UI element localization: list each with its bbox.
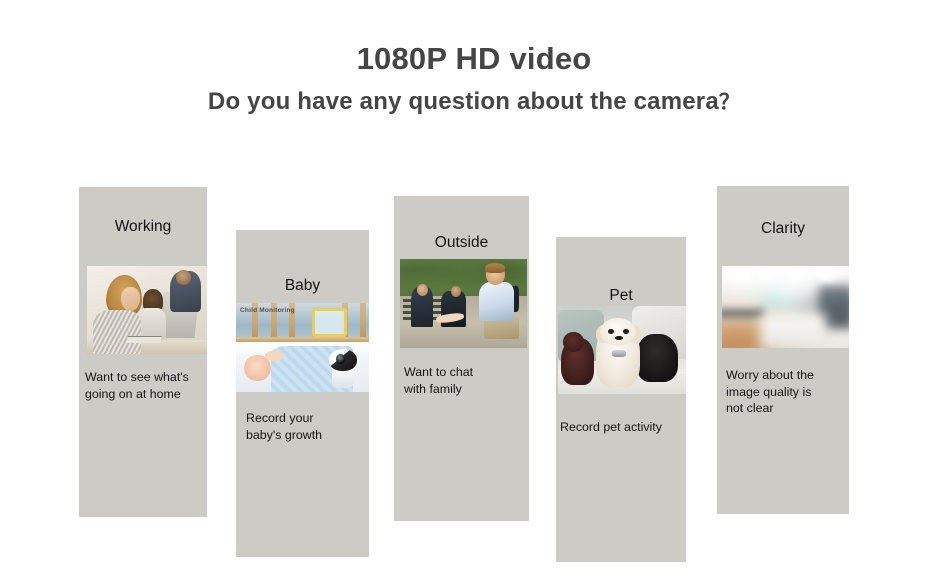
card-caption: Record pet activity bbox=[560, 419, 688, 436]
feature-card-pet: Pet Record pet activity bbox=[556, 237, 686, 562]
promo-page: 1080P HD video Do you have any question … bbox=[0, 0, 948, 585]
card-caption: Worry about the image quality is not cle… bbox=[726, 367, 848, 417]
photo-watermark: Child Monitoring bbox=[240, 307, 295, 314]
photo-artwork bbox=[558, 306, 686, 394]
page-title: 1080P HD video bbox=[0, 40, 948, 78]
feature-card-clarity: Clarity Worry about the image quality is… bbox=[717, 186, 849, 514]
card-heading: Clarity bbox=[717, 219, 849, 239]
office-workers-photo bbox=[87, 266, 207, 354]
card-heading: Baby bbox=[236, 276, 369, 296]
photo-artwork bbox=[236, 303, 369, 392]
page-subtitle: Do you have any question about the camer… bbox=[0, 85, 948, 120]
photo-artwork bbox=[400, 259, 527, 348]
feature-card-baby: Baby Child Monitoring bbox=[236, 230, 369, 557]
card-heading: Pet bbox=[556, 286, 686, 306]
photo-artwork bbox=[87, 266, 207, 354]
card-caption: Record your baby's growth bbox=[246, 410, 368, 443]
photo-artwork bbox=[722, 266, 849, 348]
feature-card-working: Working Want to see what's going on at h… bbox=[79, 187, 207, 517]
card-caption: Want to chat with family bbox=[404, 364, 528, 397]
park-bench-photo bbox=[400, 259, 527, 348]
page-subtitle-text: Do you have any question about the camer… bbox=[208, 88, 719, 115]
blurred-interior-photo bbox=[722, 266, 849, 348]
baby-crib-photo: Child Monitoring bbox=[236, 303, 369, 392]
card-caption: Want to see what's going on at home bbox=[85, 369, 211, 402]
three-dogs-photo bbox=[558, 306, 686, 394]
card-heading: Outside bbox=[394, 233, 529, 253]
feature-card-outside: Outside Want to chat with family bbox=[394, 196, 529, 521]
card-heading: Working bbox=[79, 217, 207, 237]
question-mark-glyph: ？ bbox=[719, 91, 740, 114]
